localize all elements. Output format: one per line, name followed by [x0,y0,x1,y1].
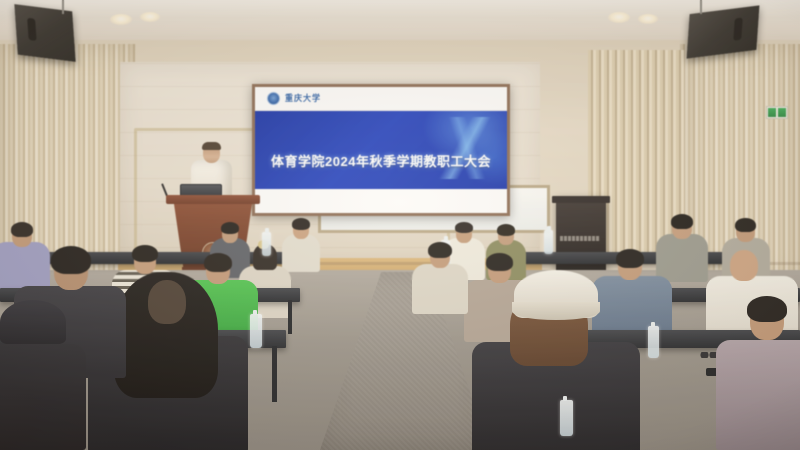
downlight-2 [140,12,160,22]
ceiling-loudspeaker-right [687,5,760,58]
desk-leg [288,300,292,334]
attendee-torso [0,344,86,450]
attendee-hair [132,245,158,262]
desk-leg [272,346,277,402]
water-bottle [250,314,262,348]
projection-screen[interactable]: 重庆大学 体育学院2024年秋季学期教职工大会 2024年8月30日 [252,84,510,216]
loudspeaker-driver-right [733,18,743,41]
attendee-hair [292,218,310,230]
attendee-hair [671,214,693,229]
slide-header: 重庆大学 [255,87,507,111]
university-name: 重庆大学 [285,93,321,105]
downlight-3 [608,12,630,23]
attendee-head [148,280,186,324]
slide-title: 体育学院2024年秋季学期教职工大会 [255,151,507,170]
attendee-hair [221,222,239,234]
piano-lid [552,196,610,203]
loudspeaker-mount-left [62,0,64,14]
attendee-hair [11,222,33,237]
exit-sign-panel-b [778,108,786,117]
slide-banner: 体育学院2024年秋季学期教职工大会 2024年8月30日 [255,111,507,189]
attendee-torso [716,340,800,450]
attendee-torso [412,264,468,314]
water-bottle [544,230,553,254]
exit-sign-panel-a [768,108,776,117]
attendee-torso [656,234,708,282]
podium-top [166,195,260,204]
projected-slide: 重庆大学 体育学院2024年秋季学期教职工大会 2024年8月30日 [255,87,507,213]
downlight-4 [638,14,658,24]
dark-cap [0,300,66,344]
downlight-1 [110,14,132,25]
ceiling-loudspeaker-left [14,4,75,62]
attendee-torso [282,234,320,272]
cap-brim [512,302,600,320]
attendee-hair [455,222,473,233]
water-bottle [262,232,271,256]
attendee-hair [51,246,91,274]
attendee-hair [747,296,787,322]
conference-room-photo: 重庆大学 体育学院2024年秋季学期教职工大会 2024年8月30日 [0,0,800,450]
attendee-hair [486,253,513,271]
attendee-hair [735,218,756,232]
loudspeaker-driver-left [27,18,37,41]
attendee-head [730,250,758,281]
water-bottle [560,400,573,436]
piano-keys [560,236,600,241]
presenter-hair [202,142,221,150]
university-emblem-icon [267,92,280,105]
attendee-hair [616,249,644,268]
water-bottle [648,326,659,358]
loudspeaker-mount-right [700,0,702,14]
slide-footer [255,189,507,213]
attendee-hair [428,242,452,258]
emergency-exit-sign [766,106,788,119]
attendee-hair [204,253,232,272]
attendee-hair [497,224,515,236]
